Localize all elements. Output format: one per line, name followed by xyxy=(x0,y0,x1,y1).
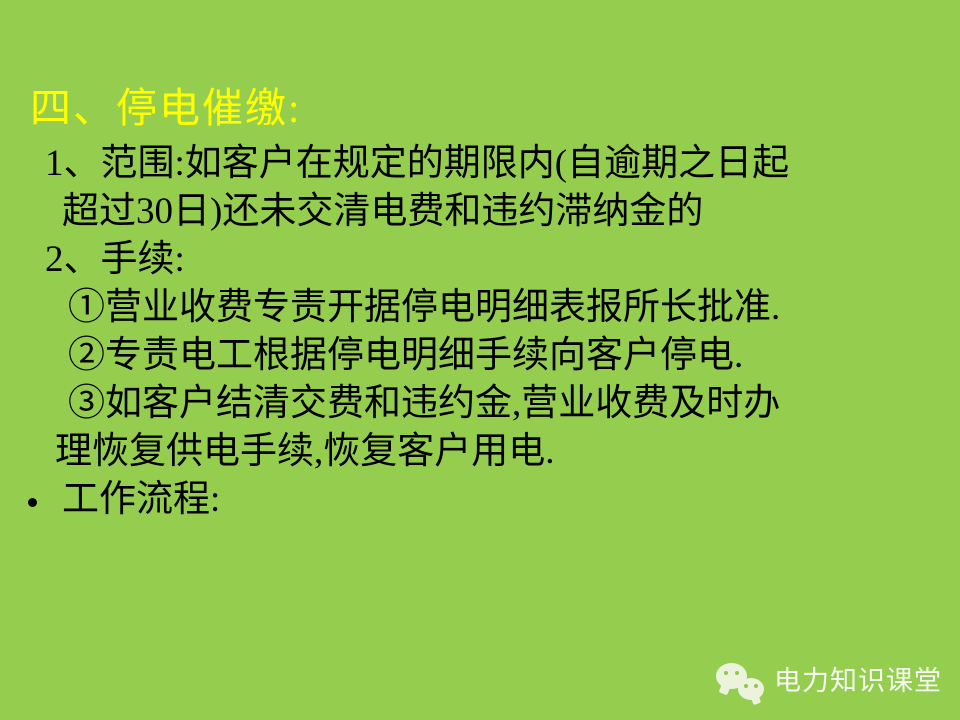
bullet-item-label: 工作流程: xyxy=(62,479,220,520)
watermark: 电力知识课堂 xyxy=(716,662,942,700)
watermark-label: 电力知识课堂 xyxy=(774,666,942,696)
bullet-list-item: 工作流程: xyxy=(0,476,960,524)
wechat-dot-3 xyxy=(744,684,748,688)
page-title: 四、停电催缴: xyxy=(30,84,301,132)
slide-canvas: 四、停电催缴: 1、范围:如客户在规定的期限内(自逾期之日起 超过30日)还未交… xyxy=(0,0,960,720)
content-line-procedure-head: 2、手续: xyxy=(0,236,960,284)
wechat-dot-2 xyxy=(735,671,739,675)
wechat-dot-4 xyxy=(754,684,758,688)
content-line-step-3: ③如客户结清交费和违约金,营业收费及时办 xyxy=(0,380,960,428)
wechat-bubble-small xyxy=(738,678,764,700)
bullet-dot-icon xyxy=(28,498,37,507)
wechat-icon xyxy=(716,662,764,700)
content-line-step-3-cont: 理恢复供电手续,恢复客户用电. xyxy=(0,428,960,476)
content-line-step-1: ①营业收费专责开据停电明细表报所长批准. xyxy=(0,284,960,332)
content-line-scope-head: 1、范围:如客户在规定的期限内(自逾期之日起 xyxy=(0,140,960,188)
content-line-scope-cont: 超过30日)还未交清电费和违约滞纳金的 xyxy=(0,188,960,236)
slide-body: 1、范围:如客户在规定的期限内(自逾期之日起 超过30日)还未交清电费和违约滞纳… xyxy=(0,140,960,524)
wechat-dot-1 xyxy=(724,671,728,675)
content-line-step-2: ②专责电工根据停电明细手续向客户停电. xyxy=(0,332,960,380)
